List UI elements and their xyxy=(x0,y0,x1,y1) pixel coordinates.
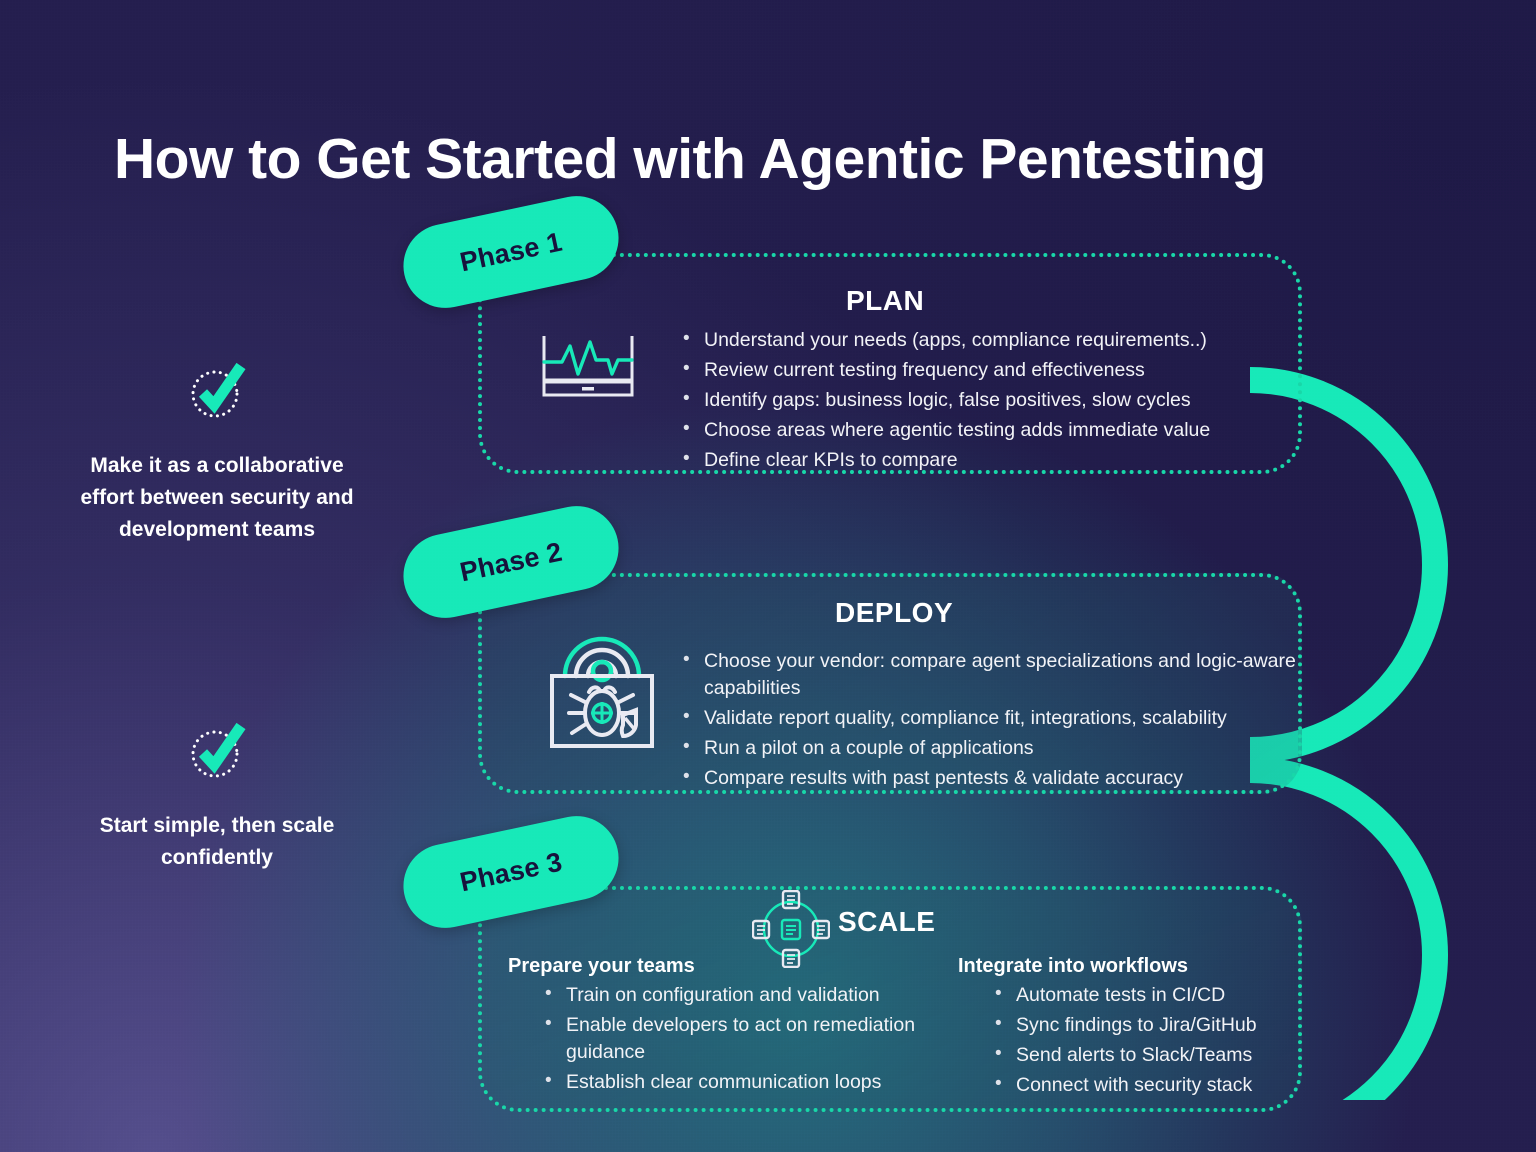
phase-3-column-1-list: Train on configuration and validation En… xyxy=(542,982,946,1099)
list-item: Establish clear communication loops xyxy=(566,1069,946,1096)
list-item: Connect with security stack xyxy=(1016,1072,1336,1099)
phase-3-column-1-heading: Prepare your teams xyxy=(508,955,695,978)
list-item: Define clear KPIs to compare xyxy=(704,447,1304,474)
list-item: Identify gaps: business logic, false pos… xyxy=(704,387,1304,414)
phase-3-column-2-heading: Integrate into workflows xyxy=(958,955,1188,978)
list-item: Enable developers to act on remediation … xyxy=(566,1012,946,1066)
list-item: Understand your needs (apps, compliance … xyxy=(704,327,1304,354)
phase-3-heading: SCALE xyxy=(838,906,935,938)
list-item: Choose areas where agentic testing adds … xyxy=(704,417,1304,444)
list-item: Sync findings to Jira/GitHub xyxy=(1016,1012,1336,1039)
phase-3-pill-label: Phase 3 xyxy=(457,846,565,898)
note-text: Start simple, then scale confidently xyxy=(67,810,367,874)
phase-2-bullet-list: Choose your vendor: compare agent specia… xyxy=(680,648,1324,795)
list-item: Send alerts to Slack/Teams xyxy=(1016,1042,1336,1069)
page-title: How to Get Started with Agentic Pentesti… xyxy=(114,130,1434,190)
note-start-simple: Start simple, then scale confidently xyxy=(67,720,367,874)
phase-1-pill-label: Phase 1 xyxy=(457,226,565,278)
phase-1-heading: PLAN xyxy=(846,285,924,317)
note-text: Make it as a collaborative effort betwee… xyxy=(67,450,367,546)
list-item: Run a pilot on a couple of applications xyxy=(704,735,1324,762)
bug-scan-icon xyxy=(543,618,661,750)
phase-1-bullet-list: Understand your needs (apps, compliance … xyxy=(680,327,1304,477)
phase-2-heading: DEPLOY xyxy=(835,597,953,629)
list-item: Review current testing frequency and eff… xyxy=(704,357,1304,384)
check-circle-dotted-icon xyxy=(186,360,248,422)
infographic-canvas: How to Get Started with Agentic Pentesti… xyxy=(0,0,1536,1152)
list-item: Automate tests in CI/CD xyxy=(1016,982,1336,1009)
list-item: Choose your vendor: compare agent specia… xyxy=(704,648,1324,702)
phase-3-column-2-list: Automate tests in CI/CD Sync findings to… xyxy=(992,982,1336,1102)
list-item: Compare results with past pentests & val… xyxy=(704,765,1324,792)
phase-2-pill-label: Phase 2 xyxy=(457,536,565,588)
network-documents-icon xyxy=(752,890,830,968)
list-item: Train on configuration and validation xyxy=(566,982,946,1009)
list-item: Validate report quality, compliance fit,… xyxy=(704,705,1324,732)
chart-monitor-icon xyxy=(538,330,638,398)
check-circle-dotted-icon xyxy=(186,720,248,782)
note-collaborative-effort: Make it as a collaborative effort betwee… xyxy=(67,360,367,546)
